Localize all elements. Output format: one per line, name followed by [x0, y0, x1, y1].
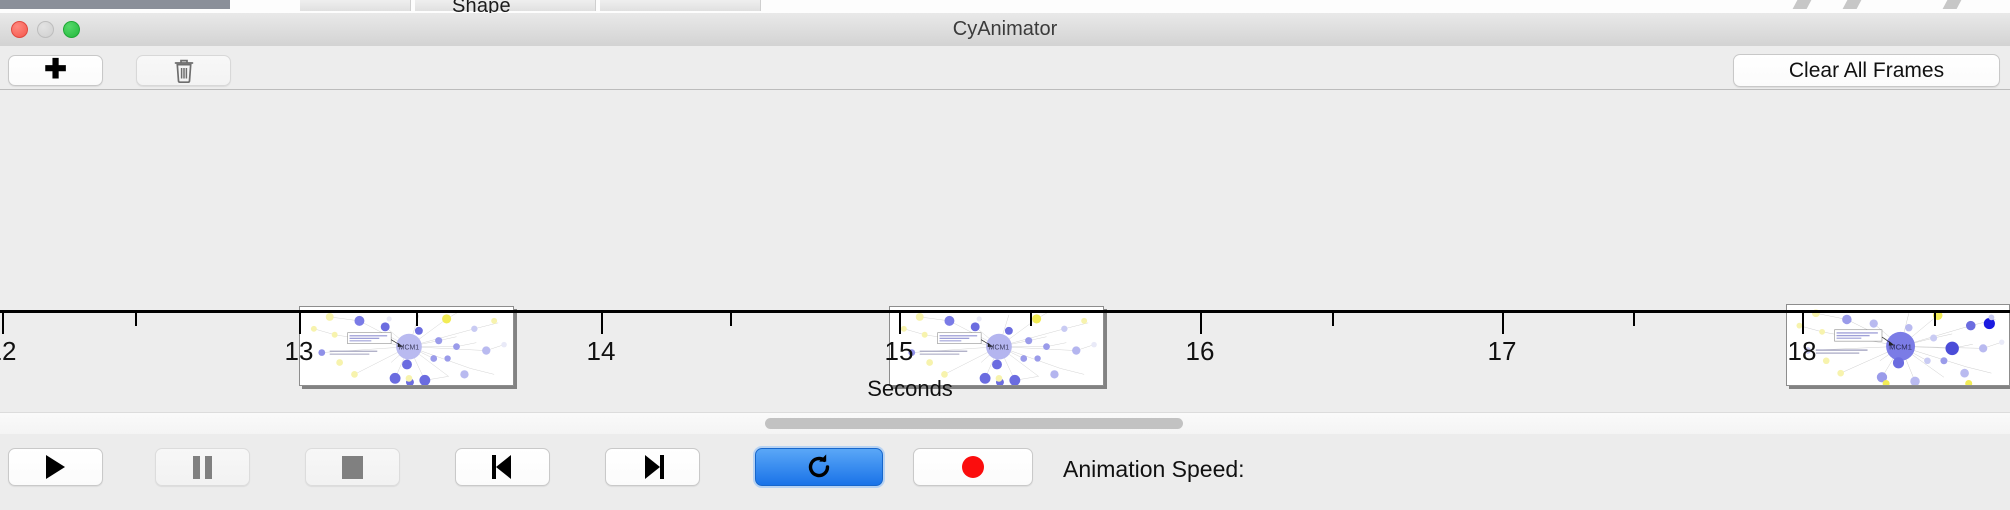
- timeline-tick-label: 15: [885, 336, 914, 367]
- stop-button[interactable]: [305, 448, 400, 486]
- timeline-tick-minor: [1030, 313, 1032, 326]
- timeline-tick-minor: [416, 313, 418, 326]
- skip-start-button[interactable]: [455, 448, 550, 486]
- timeline-frame-thumbnail[interactable]: MCM1: [299, 306, 514, 386]
- network-thumbnail-image: MCM1: [890, 307, 1103, 386]
- timeline-tick-label: 16: [1186, 336, 1215, 367]
- record-icon: [962, 456, 984, 478]
- timeline-tick-label: 17: [1488, 336, 1517, 367]
- timeline-tick-major: [899, 313, 901, 334]
- timeline-tick-label: 12: [0, 336, 16, 367]
- cyanimator-window: Shape CyAnimator ✚ Clear All Frames: [0, 0, 2010, 510]
- record-button[interactable]: [913, 448, 1033, 486]
- timeline-axis-line: [0, 310, 2010, 313]
- skip-start-icon: [490, 455, 516, 479]
- pause-button[interactable]: [155, 448, 250, 486]
- timeline-canvas[interactable]: MCM1: [0, 90, 2010, 412]
- background-tick-icon: [1843, 0, 1862, 9]
- stop-icon: [342, 456, 363, 479]
- timeline-tick-major: [2, 313, 4, 334]
- play-icon: [46, 455, 65, 479]
- window-title: CyAnimator: [0, 13, 2010, 46]
- background-tick-icon: [1943, 0, 1962, 9]
- trash-icon: [173, 58, 195, 83]
- skip-end-icon: [640, 455, 666, 479]
- timeline-tick-major: [1502, 313, 1504, 334]
- timeline-tick-label: 13: [285, 336, 314, 367]
- timeline-frame-thumbnail[interactable]: MCM1: [1786, 304, 2010, 386]
- background-dark-panel: [0, 0, 230, 9]
- animation-speed-label: Animation Speed:: [1063, 456, 1245, 483]
- timeline-tick-minor: [135, 313, 137, 326]
- add-frame-button[interactable]: ✚: [8, 55, 103, 86]
- svg-text:MCM1: MCM1: [1889, 342, 1912, 351]
- timeline-frame-thumbnail[interactable]: MCM1: [889, 306, 1104, 386]
- plus-icon: ✚: [44, 56, 67, 83]
- axis-title: Seconds: [0, 376, 1820, 402]
- timeline-tick-minor: [1934, 313, 1936, 326]
- timeline-scrollbar[interactable]: [0, 412, 2010, 436]
- svg-text:MCM1: MCM1: [989, 345, 1010, 352]
- timeline-tick-major: [601, 313, 603, 334]
- scrollbar-thumb[interactable]: [765, 418, 1183, 429]
- network-thumbnail-image: MCM1: [300, 307, 513, 386]
- background-tick-icon: [1793, 0, 1812, 9]
- timeline-tick-label: 14: [587, 336, 616, 367]
- pause-icon: [193, 456, 212, 479]
- timeline-tick-minor: [1332, 313, 1334, 326]
- timeline-tick-major: [1802, 313, 1804, 334]
- svg-text:MCM1: MCM1: [399, 345, 420, 352]
- playback-bar: Animation Speed:: [0, 434, 2010, 510]
- timeline-tick-label: 18: [1788, 336, 1817, 367]
- delete-frame-button[interactable]: [136, 55, 231, 86]
- title-bar[interactable]: CyAnimator: [0, 13, 2010, 47]
- background-app-text: Shape: [452, 0, 511, 14]
- skip-end-button[interactable]: [605, 448, 700, 486]
- background-app-strip: Shape: [0, 0, 2010, 14]
- background-chip: [600, 0, 761, 11]
- timeline-tick-major: [299, 313, 301, 334]
- loop-button[interactable]: [755, 448, 883, 486]
- timeline-tick-minor: [1633, 313, 1635, 326]
- timeline-tick-minor: [730, 313, 732, 326]
- play-button[interactable]: [8, 448, 103, 486]
- timeline-tick-major: [1200, 313, 1202, 334]
- clear-all-frames-button[interactable]: Clear All Frames: [1733, 54, 2000, 87]
- loop-icon: [804, 452, 834, 482]
- background-chip: [300, 0, 411, 11]
- network-thumbnail-image: MCM1: [1787, 305, 2009, 386]
- toolbar: ✚ Clear All Frames: [0, 46, 2010, 90]
